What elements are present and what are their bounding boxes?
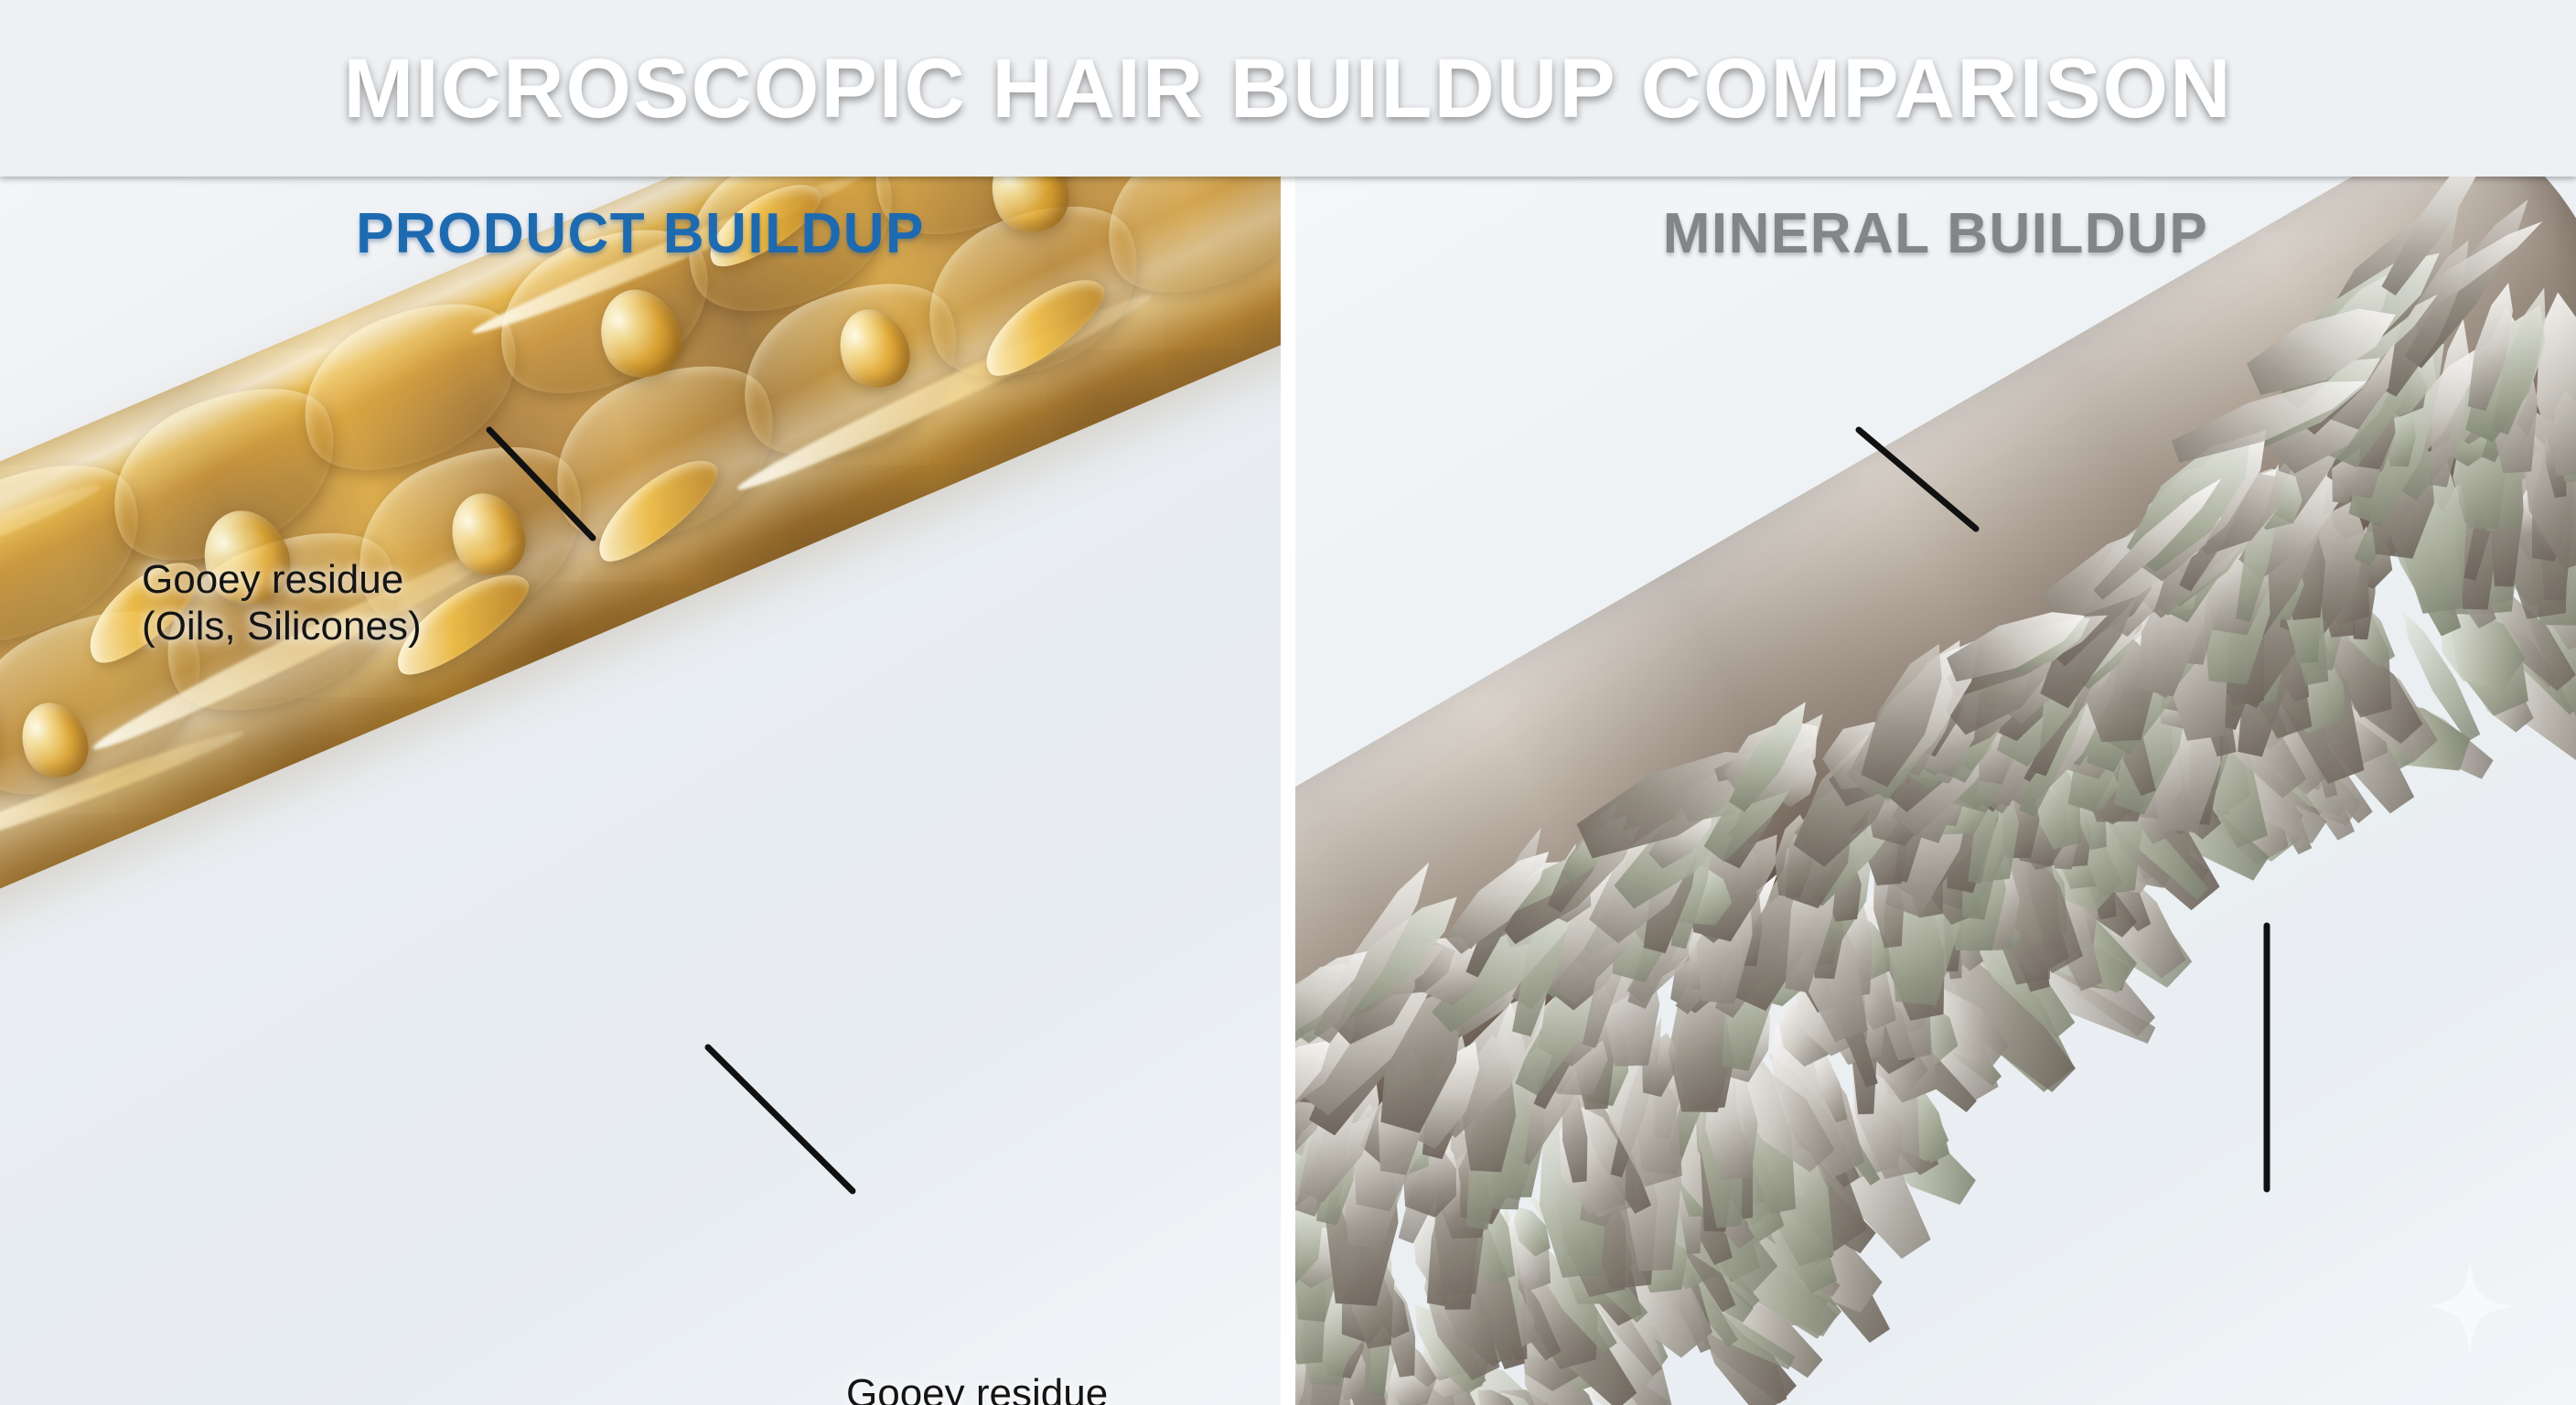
panel-title-product-buildup: PRODUCT BUILDUP bbox=[0, 201, 1281, 266]
sparkle-watermark-icon bbox=[2426, 1257, 2514, 1357]
annotation-line-1: Gooey residue bbox=[142, 557, 403, 602]
crystal-deposits-illustration bbox=[1295, 177, 2576, 1405]
comparison-infographic: MICROSCOPIC HAIR BUILDUP COMPARISON bbox=[0, 0, 2576, 1405]
panel-divider bbox=[1281, 177, 1295, 1405]
page-title: MICROSCOPIC HAIR BUILDUP COMPARISON bbox=[343, 47, 2232, 131]
annotation-gooey-residue-top: Gooey residue (Oils, Silicones) bbox=[142, 556, 422, 650]
annotation-line-1: Gooey residue bbox=[846, 1371, 1108, 1405]
panel-mineral-buildup: MINERAL BUILDUP Crystalline deposits (Ca… bbox=[1295, 177, 2576, 1405]
panel-product-buildup: PRODUCT BUILDUP Gooey residue (Oils, Sil… bbox=[0, 177, 1281, 1405]
annotation-gooey-residue-bottom: Gooey residue (Oils, Silicones) bbox=[846, 1370, 1126, 1405]
header-banner: MICROSCOPIC HAIR BUILDUP COMPARISON bbox=[0, 0, 2576, 177]
annotation-line-2: (Oils, Silicones) bbox=[142, 603, 422, 649]
